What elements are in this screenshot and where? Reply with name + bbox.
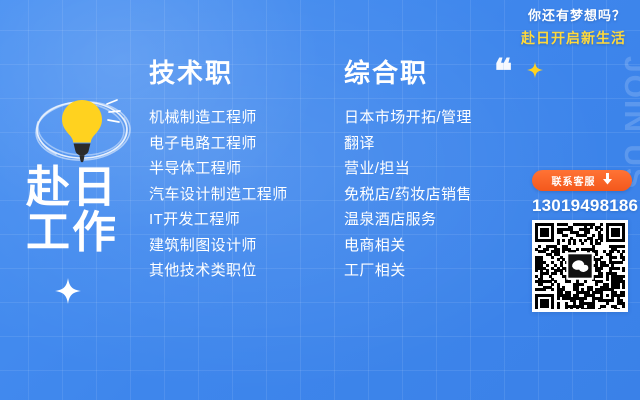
- contact-block: 联系客服 13019498186: [532, 170, 632, 312]
- list-item: 建筑制图设计师: [149, 238, 288, 253]
- slogan-block: 你还有梦想吗？ 赴日开启新生活: [521, 6, 626, 49]
- page-title-line-1: 赴日: [26, 166, 118, 211]
- page-title: 赴日 工作: [26, 166, 118, 256]
- quote-mark-icon: ❝: [494, 56, 511, 90]
- contact-support-button[interactable]: 联系客服: [532, 170, 632, 191]
- job-column-general-heading: 综合职: [344, 60, 472, 86]
- qr-code[interactable]: [532, 220, 628, 312]
- list-item: 日本市场开拓/管理: [344, 110, 472, 125]
- star-white-icon: [55, 278, 81, 304]
- list-item: 温泉酒店服务: [344, 212, 472, 227]
- list-item: 电商相关: [344, 238, 472, 253]
- list-item: IT开发工程师: [149, 212, 288, 227]
- slogan-line-1: 你还有梦想吗？: [521, 6, 626, 26]
- contact-support-button-label: 联系客服: [552, 173, 596, 188]
- job-column-technical-heading: 技术职: [149, 60, 288, 86]
- qr-code-image: [535, 223, 625, 309]
- slogan-line-2: 赴日开启新生活: [521, 28, 626, 49]
- contact-phone-number: 13019498186: [532, 196, 632, 216]
- list-item: 电子电路工程师: [149, 136, 288, 151]
- page-title-line-2: 工作: [26, 211, 118, 256]
- list-item: 翻译: [344, 136, 472, 151]
- arrow-down-icon: [602, 172, 613, 190]
- list-item: 免税店/药妆店销售: [344, 187, 472, 202]
- list-item: 工厂相关: [344, 263, 472, 278]
- list-item: 营业/担当: [344, 161, 472, 176]
- list-item: 半导体工程师: [149, 161, 288, 176]
- poster-canvas: JOIN US 你还有梦想吗？ 赴日开启新生活 ❝: [0, 0, 640, 400]
- job-column-technical: 技术职 机械制造工程师 电子电路工程师 半导体工程师 汽车设计制造工程师 IT开…: [149, 60, 288, 289]
- list-item: 其他技术类职位: [149, 263, 288, 278]
- job-list-technical: 机械制造工程师 电子电路工程师 半导体工程师 汽车设计制造工程师 IT开发工程师…: [149, 110, 288, 278]
- job-column-general: 综合职 日本市场开拓/管理 翻译 营业/担当 免税店/药妆店销售 温泉酒店服务 …: [344, 60, 472, 289]
- list-item: 汽车设计制造工程师: [149, 187, 288, 202]
- job-list-general: 日本市场开拓/管理 翻译 营业/担当 免税店/药妆店销售 温泉酒店服务 电商相关…: [344, 110, 472, 278]
- star-yellow-icon: [527, 62, 543, 78]
- list-item: 机械制造工程师: [149, 110, 288, 125]
